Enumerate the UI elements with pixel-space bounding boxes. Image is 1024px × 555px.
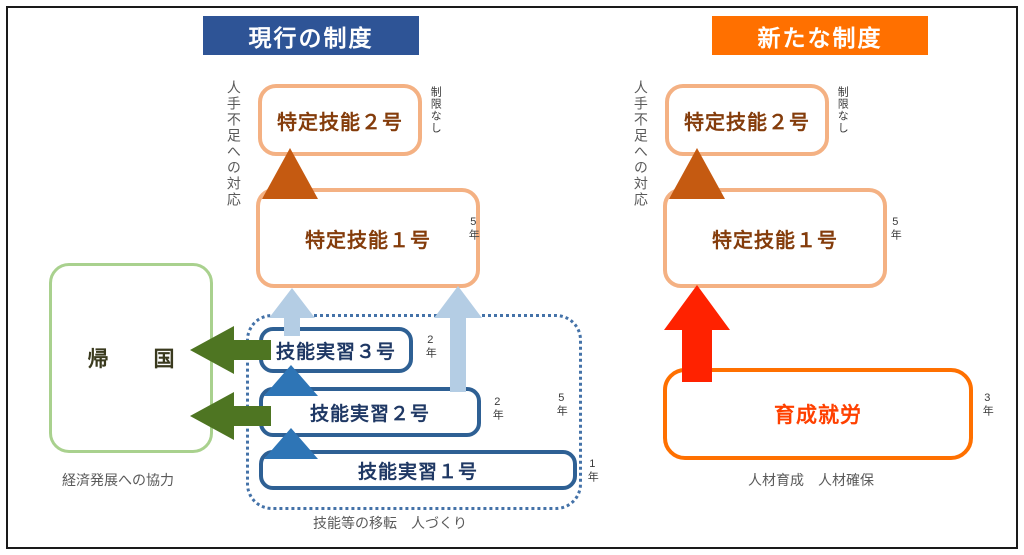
box-label: 技能実習２号 <box>310 399 430 426</box>
caption-ikusei-shuro: 人材育成 人材確保 <box>748 470 874 490</box>
box-tokutei-ginou-2-current: 特定技能２号 <box>258 84 422 156</box>
box-label: 特定技能１号 <box>305 224 431 253</box>
duration-tokutei1-current: 5年 <box>466 216 480 241</box>
duration-tokutei1-new: 5年 <box>888 216 902 241</box>
box-label: 育成就労 <box>774 399 862 429</box>
header-new-system: 新たな制度 <box>712 16 928 55</box>
duration-jisshu2: 2年 <box>490 396 504 421</box>
box-ikusei-shuro: 育成就労 <box>663 368 973 460</box>
box-label: 技能実習１号 <box>358 457 478 484</box>
duration-ikusei: 3年 <box>980 392 994 417</box>
header-current-system: 現行の制度 <box>203 16 419 55</box>
box-ginou-jisshu-2: 技能実習２号 <box>259 387 481 437</box>
box-tokutei-ginou-1-current: 特定技能１号 <box>256 188 480 288</box>
duration-jisshu1: 1年 <box>585 458 599 483</box>
box-label: 特定技能２号 <box>277 106 403 135</box>
box-ginou-jisshu-3: 技能実習３号 <box>259 327 413 373</box>
box-tokutei-ginou-1-new: 特定技能１号 <box>663 188 887 288</box>
caption-training-group: 技能等の移転 人づくり <box>313 513 467 533</box>
duration-jisshu3: 2年 <box>423 334 437 359</box>
diagram-canvas: 現行の制度 新たな制度 人手不足への対応 特定技能２号 制限なし 特定技能１号 … <box>0 0 1024 555</box>
duration-tokutei2-new: 制限なし <box>835 86 849 134</box>
side-label-new-labor-shortage: 人手不足への対応 <box>631 80 650 208</box>
duration-tokutei2-current: 制限なし <box>428 86 442 134</box>
box-tokutei-ginou-2-new: 特定技能２号 <box>665 84 829 156</box>
box-ginou-jisshu-1: 技能実習１号 <box>259 450 577 490</box>
box-label: 帰 国 <box>76 343 187 373</box>
box-label: 特定技能２号 <box>684 106 810 135</box>
caption-return-home: 経済発展への協力 <box>62 470 174 490</box>
side-label-current-labor-shortage: 人手不足への対応 <box>224 80 243 208</box>
box-label: 特定技能１号 <box>712 224 838 253</box>
duration-training-group-total: 5年 <box>554 392 568 417</box>
box-return-home: 帰 国 <box>49 263 213 453</box>
box-label: 技能実習３号 <box>276 337 396 364</box>
